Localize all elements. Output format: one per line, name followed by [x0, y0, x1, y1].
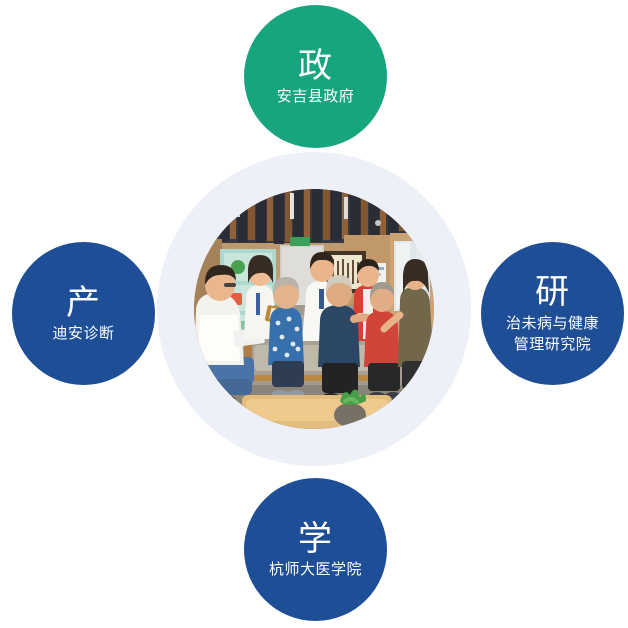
node-academia-label: 杭师大医学院 [263, 560, 368, 580]
community-health-photo-illustration [194, 189, 434, 429]
node-industry-label: 迪安诊断 [46, 324, 120, 344]
center-photo [194, 189, 434, 429]
node-industry-character: 产 [66, 284, 101, 322]
collaboration-diagram: 政 安吉县政府 产 迪安诊断 研 治未病与健康 管理研究院 学 杭师大医学院 [0, 0, 628, 628]
node-government-label: 安吉县政府 [271, 87, 361, 107]
node-research[interactable]: 研 治未病与健康 管理研究院 [481, 242, 624, 385]
node-academia-character: 学 [298, 520, 333, 558]
node-academia[interactable]: 学 杭师大医学院 [244, 478, 387, 621]
node-research-label-line1: 治未病与健康 [500, 313, 605, 334]
node-industry[interactable]: 产 迪安诊断 [12, 242, 155, 385]
node-research-character: 研 [535, 273, 570, 311]
node-government[interactable]: 政 安吉县政府 [244, 5, 387, 148]
node-government-character: 政 [298, 47, 333, 85]
node-research-label-line2: 管理研究院 [508, 334, 598, 355]
